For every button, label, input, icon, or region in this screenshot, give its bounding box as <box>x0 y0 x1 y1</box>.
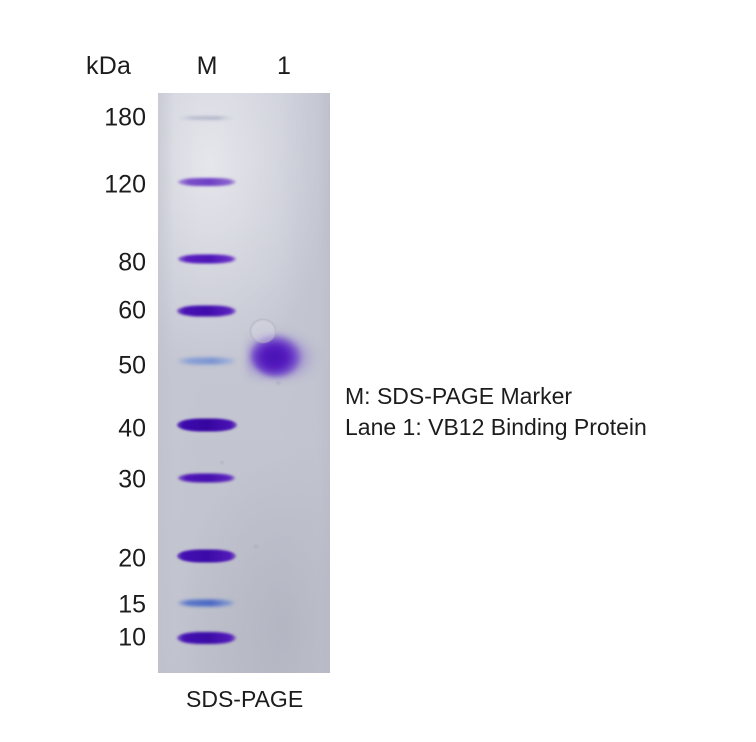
legend-annotation: M: SDS-PAGE Marker Lane 1: VB12 Binding … <box>345 381 647 443</box>
gel-bubble-artifact <box>250 319 276 343</box>
mw-label-50: 50 <box>86 352 146 381</box>
technique-caption: SDS-PAGE <box>186 686 303 713</box>
lane-header-sample-1: 1 <box>264 52 304 81</box>
sds-page-figure: kDa M 1 180 120 80 60 50 40 30 20 15 10 <box>0 0 756 742</box>
marker-band-15 <box>178 600 235 607</box>
mw-label-120: 120 <box>86 171 146 200</box>
gel-image <box>158 93 330 673</box>
gel-speckle <box>276 381 281 385</box>
marker-band-50 <box>178 358 236 365</box>
mw-label-10: 10 <box>86 624 146 653</box>
marker-band-80 <box>178 255 236 264</box>
molecular-weight-unit-label: kDa <box>86 52 131 81</box>
marker-band-10 <box>177 632 236 644</box>
mw-label-80: 80 <box>86 249 146 278</box>
marker-band-40 <box>177 419 237 432</box>
mw-label-30: 30 <box>86 466 146 495</box>
marker-band-60 <box>177 306 236 317</box>
marker-band-120 <box>178 178 236 186</box>
marker-band-180 <box>178 117 234 120</box>
legend-line-marker: M: SDS-PAGE Marker <box>345 383 572 409</box>
gel-speckle <box>220 461 224 464</box>
marker-band-20 <box>177 550 236 563</box>
mw-label-40: 40 <box>86 415 146 444</box>
lane-header-marker: M <box>187 52 227 81</box>
marker-band-30 <box>178 474 235 483</box>
legend-line-sample-1: Lane 1: VB12 Binding Protein <box>345 414 647 440</box>
mw-label-20: 20 <box>86 545 146 574</box>
mw-label-60: 60 <box>86 297 146 326</box>
mw-label-15: 15 <box>86 591 146 620</box>
mw-label-180: 180 <box>86 104 146 133</box>
gel-speckle <box>254 545 258 548</box>
